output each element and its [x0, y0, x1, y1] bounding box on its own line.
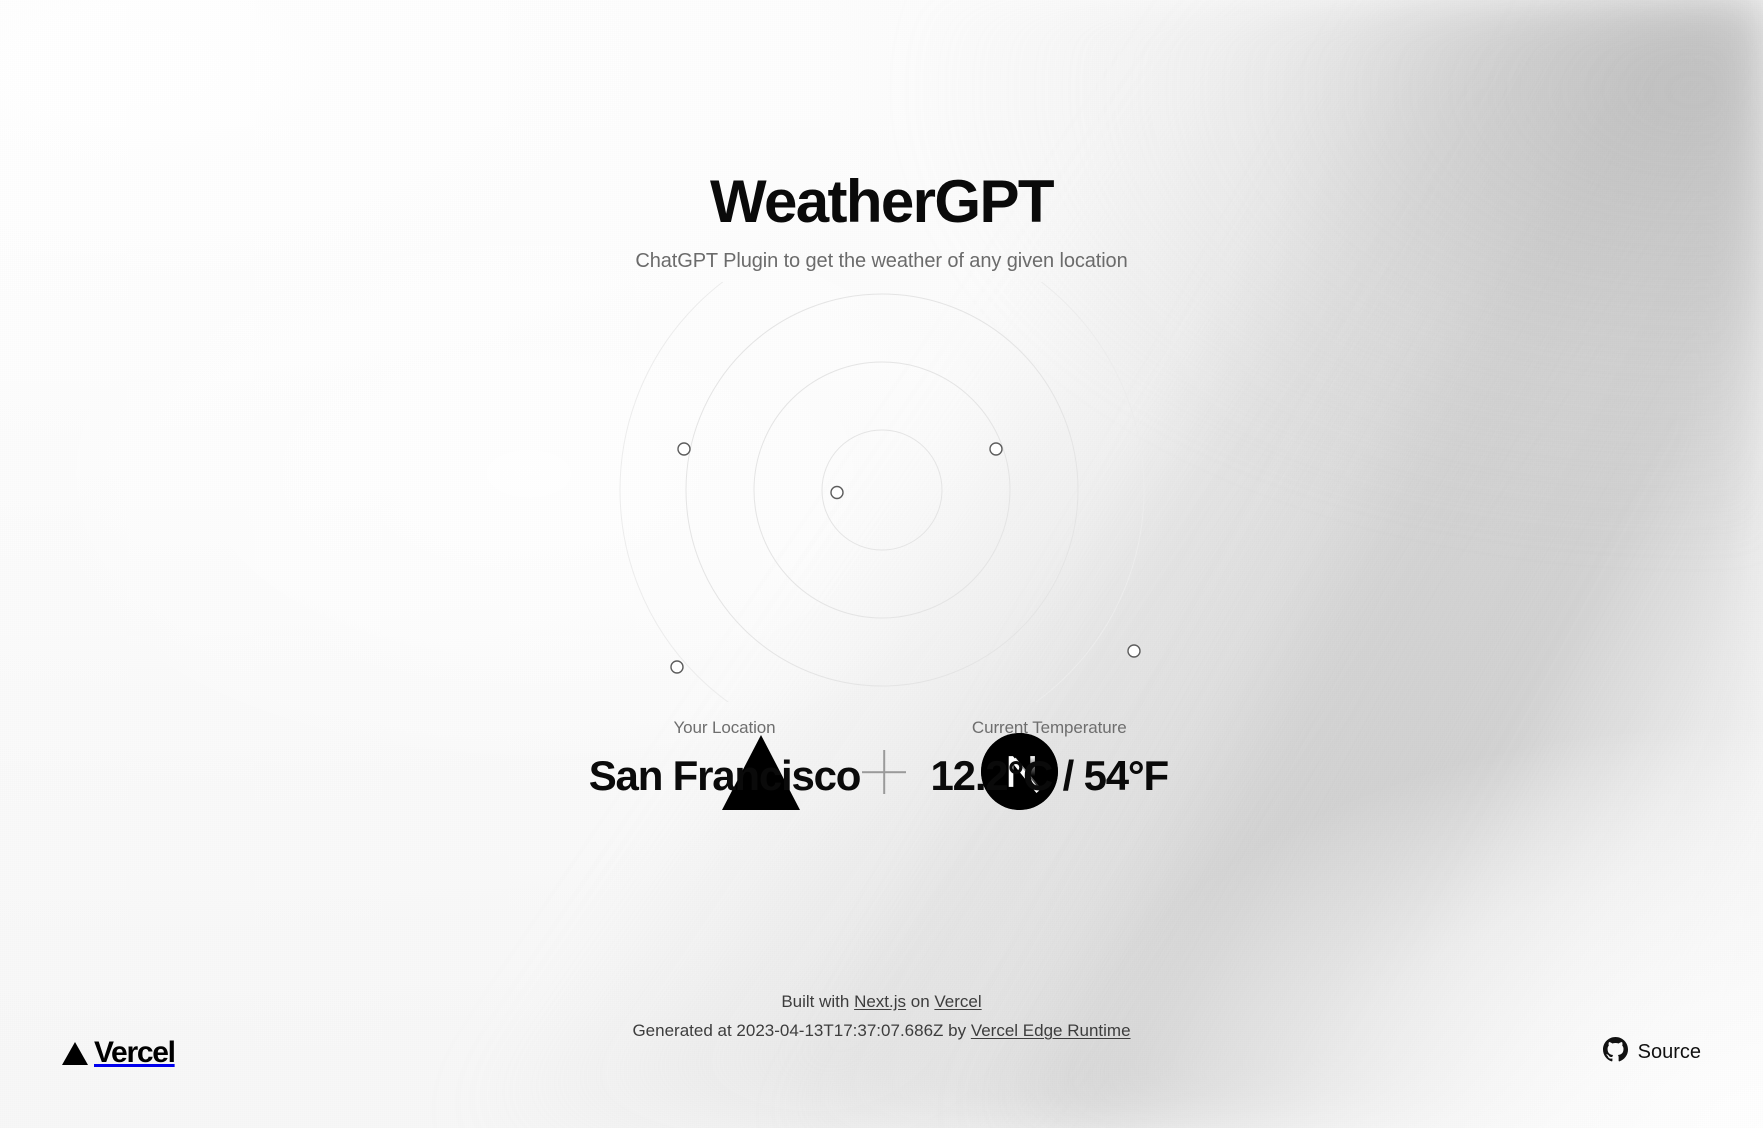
orbit-dot-4 — [671, 661, 683, 673]
stats-row: Your Location San Francisco Current Temp… — [0, 718, 1763, 800]
footer-link-nextjs[interactable]: Next.js — [854, 992, 906, 1011]
footer-built-line: Built with Next.js on Vercel — [0, 987, 1763, 1017]
vercel-brand-link[interactable]: Vercel — [62, 1036, 175, 1070]
stat-location: Your Location San Francisco — [589, 718, 861, 800]
page-header: WeatherGPT ChatGPT Plugin to get the wea… — [0, 170, 1763, 273]
vercel-wordmark: Vercel — [94, 1036, 175, 1070]
orbit-rings — [502, 282, 1262, 702]
source-link[interactable]: Source — [1603, 1037, 1701, 1068]
footer-credits: Built with Next.js on Vercel Generated a… — [0, 987, 1763, 1047]
orbit-dot-3 — [831, 487, 843, 499]
footer-built-middle: on — [906, 992, 934, 1011]
page-root: WeatherGPT ChatGPT Plugin to get the wea… — [0, 0, 1763, 1128]
stat-value-temperature: 12.2°C / 54°F — [924, 752, 1174, 800]
page-title: WeatherGPT — [0, 170, 1763, 234]
orbit-ring-4 — [620, 282, 1144, 702]
footer-link-vercel[interactable]: Vercel — [934, 992, 981, 1011]
footer-generated-line: Generated at 2023-04-13T17:37:07.686Z by… — [0, 1016, 1763, 1046]
vercel-triangle-brand-icon — [62, 1042, 88, 1065]
stat-temperature: Current Temperature 12.2°C / 54°F — [924, 718, 1174, 800]
orbit-ring-3 — [686, 294, 1078, 686]
footer-generated-middle: by — [943, 1021, 970, 1040]
source-label: Source — [1638, 1041, 1701, 1064]
orbit-ring-2 — [754, 362, 1010, 618]
footer-generated-timestamp: 2023-04-13T17:37:07.686Z — [736, 1021, 943, 1040]
orbit-dot-5 — [1128, 645, 1140, 657]
page-subtitle: ChatGPT Plugin to get the weather of any… — [0, 250, 1763, 273]
stat-label-location: Your Location — [589, 718, 861, 738]
stat-label-temperature: Current Temperature — [924, 718, 1174, 738]
orbit-graphic — [0, 282, 1763, 702]
stat-value-location: San Francisco — [589, 752, 861, 800]
footer-generated-prefix: Generated at — [632, 1021, 736, 1040]
github-icon — [1603, 1037, 1628, 1068]
footer-built-prefix: Built with — [781, 992, 854, 1011]
orbit-dot-1 — [678, 443, 690, 455]
footer-link-edge-runtime[interactable]: Vercel Edge Runtime — [971, 1021, 1131, 1040]
orbit-dot-2 — [990, 443, 1002, 455]
